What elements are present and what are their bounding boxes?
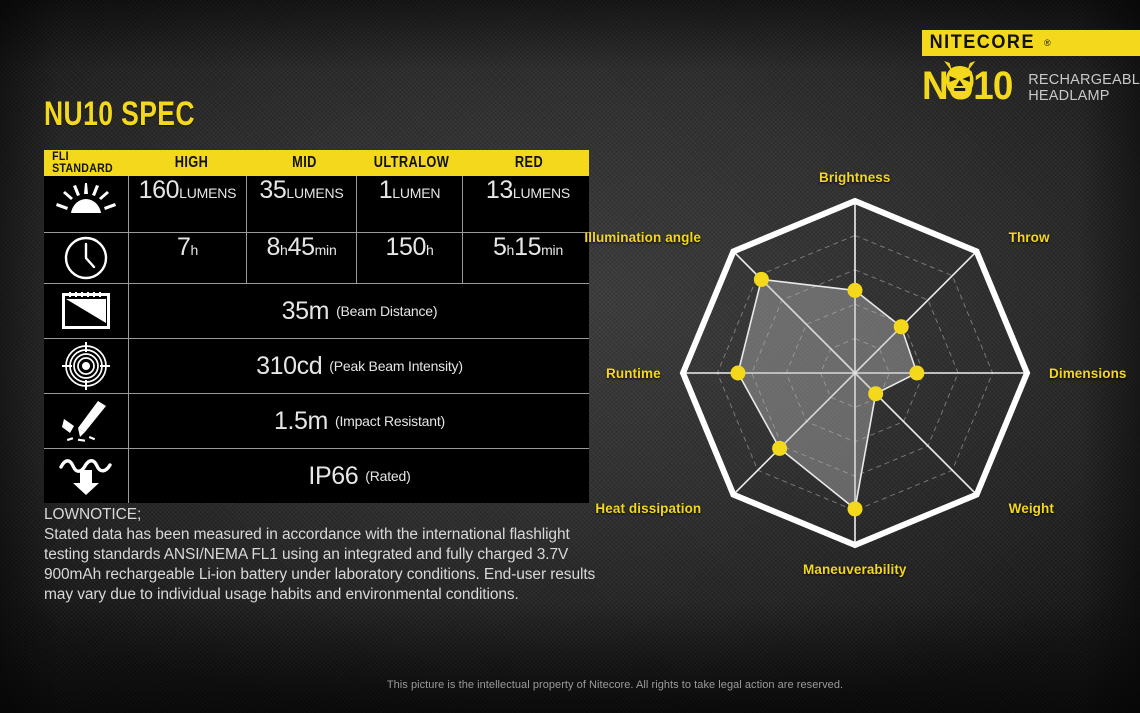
radar-axis-label-throw: Throw xyxy=(1009,230,1050,245)
cell-value: 7 xyxy=(177,233,191,262)
column-header-mid: MID xyxy=(261,154,348,172)
performance-radar-chart: BrightnessThrowDimensionsWeightManeuvera… xyxy=(600,160,1140,580)
notice-block: LOWNOTICE; Stated data has been measured… xyxy=(44,505,600,605)
cell-label: (Beam Distance) xyxy=(336,303,437,319)
table-row: 160 LUMENS 35 LUMENS 1 LUMEN 13 LUMENS xyxy=(44,176,589,233)
notice-body: Stated data has been measured in accorda… xyxy=(44,526,595,603)
radar-axis-label-illumination-angle: Illumination angle xyxy=(584,230,701,245)
peak-beam-intensity-target-icon xyxy=(44,339,129,393)
cell-value: 8 xyxy=(266,233,280,262)
cell-value: 1 xyxy=(379,176,393,205)
cell-unit: h xyxy=(426,242,434,258)
cell-red-runtime: 5 h 15 min xyxy=(463,233,593,283)
nitecore-wordmark: NITECORE xyxy=(922,32,1035,54)
column-header-red: RED xyxy=(477,154,581,172)
radar-axis-label-brightness: Brightness xyxy=(819,170,891,185)
table-row: 35m (Beam Distance) xyxy=(44,284,589,339)
cell-unit-2: min xyxy=(315,242,337,258)
product-subtitle-line1: RECHARGEABLE xyxy=(1028,72,1140,88)
radar-axis-label-weight: Weight xyxy=(1009,501,1054,516)
cell-mid-lumens: 35 LUMENS xyxy=(247,176,357,232)
column-header-standard: FLI STANDARD xyxy=(48,151,130,175)
cell-label: (Rated) xyxy=(365,468,410,484)
column-header-high: HIGH xyxy=(145,154,239,172)
cell-value-2: 45 xyxy=(288,233,315,262)
product-model-logo: NU10 xyxy=(922,68,1012,105)
cell-ultralow-runtime: 150 h xyxy=(357,233,463,283)
cell-impact-resistant: 1.5m (Impact Resistant) xyxy=(129,394,590,448)
cell-high-runtime: 7 h xyxy=(129,233,247,283)
product-subtitle-line2: HEADLAMP xyxy=(1028,88,1140,104)
cell-unit: LUMENS xyxy=(286,185,343,201)
runtime-clock-icon xyxy=(44,233,129,283)
cell-unit: LUMEN xyxy=(392,185,440,201)
cell-value: 35m xyxy=(282,297,329,326)
beam-distance-icon xyxy=(44,284,129,338)
brightness-sunburst-icon xyxy=(44,176,129,232)
cell-value: 310cd xyxy=(256,352,322,381)
cell-label: (Peak Beam Intensity) xyxy=(329,358,463,374)
waterproof-icon xyxy=(44,449,129,503)
cell-value: 150 xyxy=(385,233,426,262)
nitecore-logo: NITECORE ® xyxy=(922,30,1140,56)
cell-value: 13 xyxy=(486,176,513,205)
product-subtitle: RECHARGEABLE HEADLAMP xyxy=(1028,72,1140,105)
cell-unit: h xyxy=(506,242,514,258)
cell-high-lumens: 160 LUMENS xyxy=(129,176,247,232)
cell-value: 35 xyxy=(259,176,286,205)
radar-axis-label-maneuverability: Maneuverability xyxy=(803,562,907,577)
cell-value-2: 15 xyxy=(514,233,541,262)
cell-peak-beam-intensity: 310cd (Peak Beam Intensity) xyxy=(129,339,590,393)
spec-table-header-row: FLI STANDARD HIGH MID ULTRALOW RED xyxy=(44,150,589,176)
product-branding: NU10 RECHARGEABLE HEADLAMP xyxy=(922,68,1140,105)
spec-table: FLI STANDARD HIGH MID ULTRALOW RED xyxy=(44,150,589,503)
notice-heading: LOWNOTICE; xyxy=(44,505,600,525)
table-row: 1.5m (Impact Resistant) xyxy=(44,394,589,449)
cell-unit: LUMENS xyxy=(513,185,570,201)
footer-copyright: This picture is the intellectual propert… xyxy=(0,679,1140,691)
spec-table-body: 160 LUMENS 35 LUMENS 1 LUMEN 13 LUMENS xyxy=(44,176,589,503)
table-row: IP66 (Rated) xyxy=(44,449,589,503)
radar-axis-label-heat-dissipation: Heat dissipation xyxy=(595,501,701,516)
cell-unit: h xyxy=(280,242,288,258)
cell-red-lumens: 13 LUMENS xyxy=(463,176,593,232)
cell-value: 160 xyxy=(139,176,180,205)
cell-ultralow-lumens: 1 LUMEN xyxy=(357,176,463,232)
page-title: NU10 SPEC xyxy=(44,95,195,134)
table-row: 310cd (Peak Beam Intensity) xyxy=(44,339,589,394)
column-header-ultralow: ULTRALOW xyxy=(370,154,454,172)
cell-value: IP66 xyxy=(308,462,358,491)
cell-waterproof-rating: IP66 (Rated) xyxy=(129,449,590,503)
footer-copyright-text: This picture is the intellectual propert… xyxy=(387,679,843,691)
table-row: 7 h 8 h 45 min 150 h 5 h 15 min xyxy=(44,233,589,284)
cell-unit-2: min xyxy=(541,242,563,258)
cell-beam-distance: 35m (Beam Distance) xyxy=(129,284,590,338)
cell-value: 5 xyxy=(493,233,507,262)
cell-label: (Impact Resistant) xyxy=(335,413,445,429)
radar-axis-label-runtime: Runtime xyxy=(606,366,661,381)
impact-resistant-icon xyxy=(44,394,129,448)
cell-mid-runtime: 8 h 45 min xyxy=(247,233,357,283)
cell-unit: h xyxy=(190,242,198,258)
cell-unit: LUMENS xyxy=(179,185,236,201)
registered-mark: ® xyxy=(1044,38,1051,48)
radar-axis-label-dimensions: Dimensions xyxy=(1049,366,1127,381)
cell-value: 1.5m xyxy=(274,407,328,436)
owl-face-icon xyxy=(942,59,977,105)
